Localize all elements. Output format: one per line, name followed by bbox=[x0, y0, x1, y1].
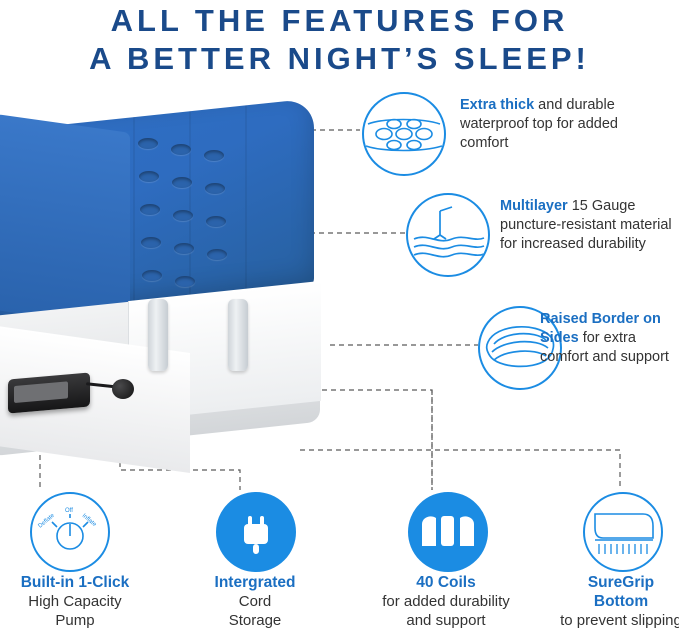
internal-coil bbox=[148, 299, 168, 371]
callout-extra-thick-bold: Extra thick bbox=[460, 97, 534, 113]
dial-label-off: Off bbox=[65, 508, 73, 514]
headline-line-1: ALL THE FEATURES FOR bbox=[111, 3, 569, 38]
plug-icon bbox=[216, 492, 296, 572]
feature-coils-title: 40 Coils bbox=[416, 574, 475, 591]
feature-suregrip-label: SureGrip Bottom to prevent slipping bbox=[545, 573, 679, 630]
feature-cord-title: Intergrated bbox=[215, 574, 296, 591]
coil-dimple bbox=[140, 204, 160, 215]
callout-multilayer-bold: Multilayer bbox=[500, 198, 568, 214]
feature-coils-label: 40 Coils for added durability and suppor… bbox=[370, 573, 522, 630]
mattress-side-flock bbox=[0, 113, 130, 329]
callout-multilayer-text: Multilayer 15 Gauge puncture-resistant m… bbox=[500, 197, 672, 254]
page-title: ALL THE FEATURES FOR A BETTER NIGHT’S SL… bbox=[0, 2, 679, 78]
coil-dimple bbox=[174, 243, 194, 254]
feature-suregrip-sub1: Bottom bbox=[594, 593, 648, 610]
pump-dial-icon: Deflate Off Inflate bbox=[30, 492, 110, 572]
feature-suregrip-title: SureGrip bbox=[588, 574, 654, 591]
coil-dimple bbox=[141, 237, 161, 248]
pump-dial bbox=[112, 379, 134, 399]
coil-dimple bbox=[205, 183, 225, 194]
built-in-pump bbox=[8, 372, 90, 413]
feature-pump-sub2: Pump bbox=[55, 612, 94, 629]
coil-dimple bbox=[139, 171, 159, 182]
feature-cord-label: Intergrated Cord Storage bbox=[180, 573, 330, 630]
feature-coils-sub1: for added durability bbox=[382, 593, 510, 610]
coil-dimple bbox=[206, 216, 226, 227]
callout-raised-border-text: Raised Border on Sides for extra comfort… bbox=[540, 310, 679, 367]
feature-pump-title: Built-in 1-Click bbox=[21, 574, 130, 591]
product-photo bbox=[0, 103, 350, 485]
headline-line-2: A BETTER NIGHT’S SLEEP! bbox=[0, 40, 679, 78]
puncture-resistant-layers-icon bbox=[406, 193, 490, 277]
feature-pump-label: Built-in 1-Click High Capacity Pump bbox=[0, 573, 150, 630]
feature-pump-sub1: High Capacity bbox=[28, 593, 121, 610]
feature-suregrip-sub2: to prevent slipping bbox=[560, 612, 679, 629]
coil-dimple bbox=[138, 138, 158, 149]
quilted-top-icon bbox=[362, 92, 446, 176]
coil-dimple bbox=[172, 177, 192, 188]
coils-icon bbox=[408, 492, 488, 572]
coil-dimple bbox=[171, 144, 191, 155]
coil-dimple bbox=[207, 249, 227, 260]
coil-dimple bbox=[204, 150, 224, 161]
callout-extra-thick-text: Extra thick and durable waterproof top f… bbox=[460, 96, 660, 153]
grip-bottom-icon bbox=[583, 492, 663, 572]
feature-cord-sub1: Cord bbox=[239, 593, 272, 610]
coil-dimple bbox=[142, 270, 162, 281]
feature-coils-sub2: and support bbox=[406, 612, 485, 629]
feature-infographic: ALL THE FEATURES FOR A BETTER NIGHT’S SL… bbox=[0, 0, 679, 637]
internal-coil bbox=[228, 299, 248, 371]
coil-dimple bbox=[173, 210, 193, 221]
feature-cord-sub2: Storage bbox=[229, 612, 282, 629]
pump-label-plate bbox=[14, 381, 68, 403]
dial-label-deflate: Deflate bbox=[37, 512, 56, 529]
coil-dimple bbox=[175, 276, 195, 287]
